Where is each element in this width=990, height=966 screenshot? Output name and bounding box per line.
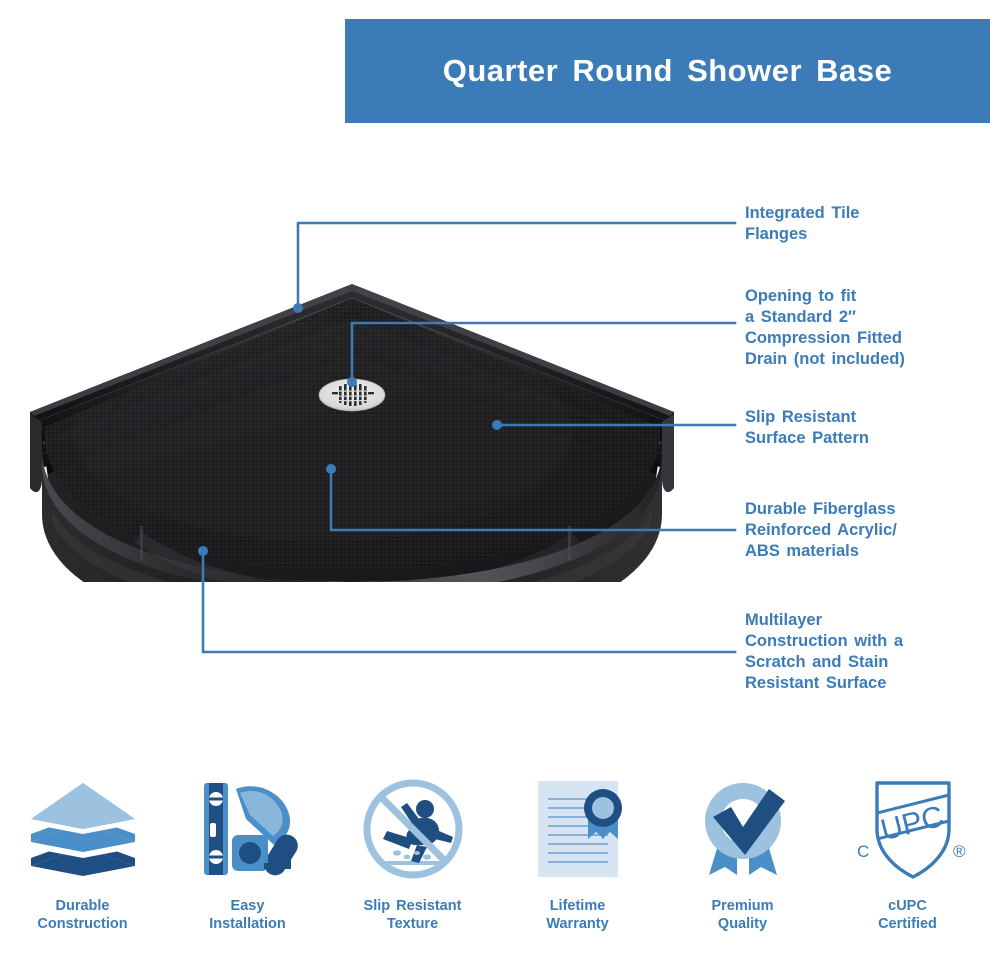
callout-integrated-tile-flanges: Integrated Tile Flanges [745,203,859,245]
callout-line: Integrated Tile [745,203,859,224]
feature-label-line: Durable [37,897,127,915]
callout-line: Drain (not included) [745,349,905,370]
level-trowel-icon [190,775,306,883]
feature-label-line: Certified [878,915,937,933]
certificate-rosette-icon [526,775,630,883]
callout-line: Flanges [745,224,859,245]
feature-lifetime-warranty: Lifetime Warranty [495,775,660,960]
callout-line: Multilayer [745,610,903,631]
callout-line: Scratch and Stain [745,652,903,673]
checkmark-rosette-icon [691,775,795,883]
feature-label-line: Texture [364,915,462,933]
no-slip-icon [357,775,469,883]
feature-label-line: Lifetime [546,897,608,915]
feature-label: Easy Installation [209,897,286,933]
feature-label: Lifetime Warranty [546,897,608,933]
header-bar: Quarter Round Shower Base [345,19,990,123]
cupc-registered-mark: ® [953,842,966,861]
feature-label-line: Installation [209,915,286,933]
callout-line: Surface Pattern [745,428,869,449]
feature-premium-quality: Premium Quality [660,775,825,960]
cupc-shield-icon: UPC C ® [845,775,971,883]
feature-label-line: Easy [209,897,286,915]
feature-label: Premium Quality [711,897,773,933]
cupc-c-mark: C [857,842,869,861]
feature-label: cUPC Certified [878,897,937,933]
drain-grate [319,379,385,411]
callout-line: a Standard 2″ [745,307,905,328]
feature-cupc-certified: UPC C ® cUPC Certified [825,775,990,960]
callout-line: Durable Fiberglass [745,499,897,520]
feature-durable-construction: Durable Construction [0,775,165,960]
callout-multilayer-construction: Multilayer Construction with a Scratch a… [745,610,903,694]
callout-line: Resistant Surface [745,673,903,694]
callout-line: Slip Resistant [745,407,869,428]
callout-line: Reinforced Acrylic/ [745,520,897,541]
layers-stack-icon [25,775,141,883]
callout-durable-fiberglass-materials: Durable Fiberglass Reinforced Acrylic/ A… [745,499,897,562]
infographic-canvas: Quarter Round Shower Base [0,0,990,966]
callout-line: Opening to fit [745,286,905,307]
page-title: Quarter Round Shower Base [443,53,893,89]
feature-easy-installation: Easy Installation [165,775,330,960]
product-image [22,282,682,582]
feature-slip-resistant-texture: Slip Resistant Texture [330,775,495,960]
feature-badges-row: Durable Construction [0,775,990,960]
callout-drain-opening: Opening to fit a Standard 2″ Compression… [745,286,905,370]
feature-label: Slip Resistant Texture [364,897,462,933]
feature-label-line: Construction [37,915,127,933]
feature-label-line: Premium [711,897,773,915]
callout-line: Compression Fitted [745,328,905,349]
feature-label: Durable Construction [37,897,127,933]
feature-label-line: Slip Resistant [364,897,462,915]
feature-label-line: cUPC [878,897,937,915]
feature-label-line: Quality [711,915,773,933]
callout-line: Construction with a [745,631,903,652]
callout-line: ABS materials [745,541,897,562]
feature-label-line: Warranty [546,915,608,933]
callout-slip-resistant-surface-pattern: Slip Resistant Surface Pattern [745,407,869,449]
